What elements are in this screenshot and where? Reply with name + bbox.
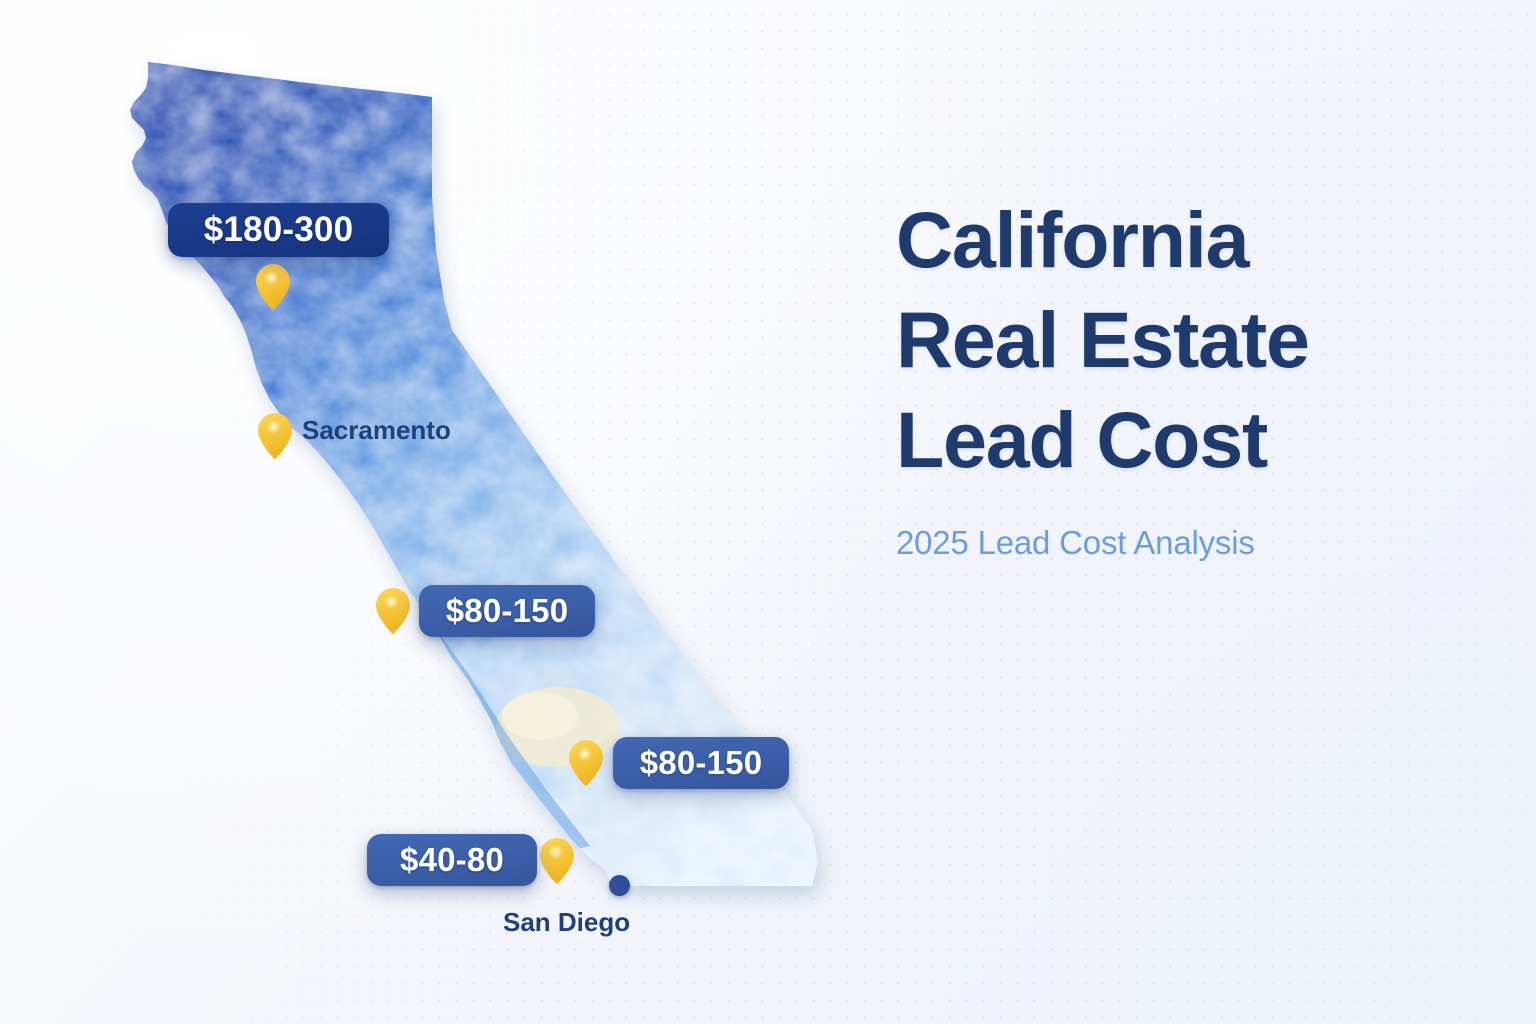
california-map: $180-300 Sacramento $80-150 $80-150 $40-… [0,0,880,1024]
city-label-sacramento: Sacramento [302,415,451,446]
cost-badge-north-california[interactable]: $180-300 [168,203,389,257]
map-pin-icon[interactable] [258,413,292,459]
map-pin-icon[interactable] [540,838,574,884]
title-line-1: California [896,195,1248,284]
cost-badge-south-coast[interactable]: $40-80 [367,834,537,886]
title-line-3: Lead Cost [896,395,1267,484]
cost-badge-central-valley[interactable]: $80-150 [419,585,595,637]
cost-badge-los-angeles[interactable]: $80-150 [613,737,789,789]
city-label-san-diego: San Diego [503,907,630,938]
headline-block: California Real Estate Lead Cost 2025 Le… [896,190,1456,564]
page-title: California Real Estate Lead Cost [896,190,1456,490]
infographic-canvas: $180-300 Sacramento $80-150 $80-150 $40-… [0,0,1536,1024]
title-line-2: Real Estate [896,295,1309,384]
map-pin-icon[interactable] [376,588,410,634]
city-dot-icon-san-diego[interactable] [609,875,630,896]
page-subtitle: 2025 Lead Cost Analysis [896,490,1456,564]
